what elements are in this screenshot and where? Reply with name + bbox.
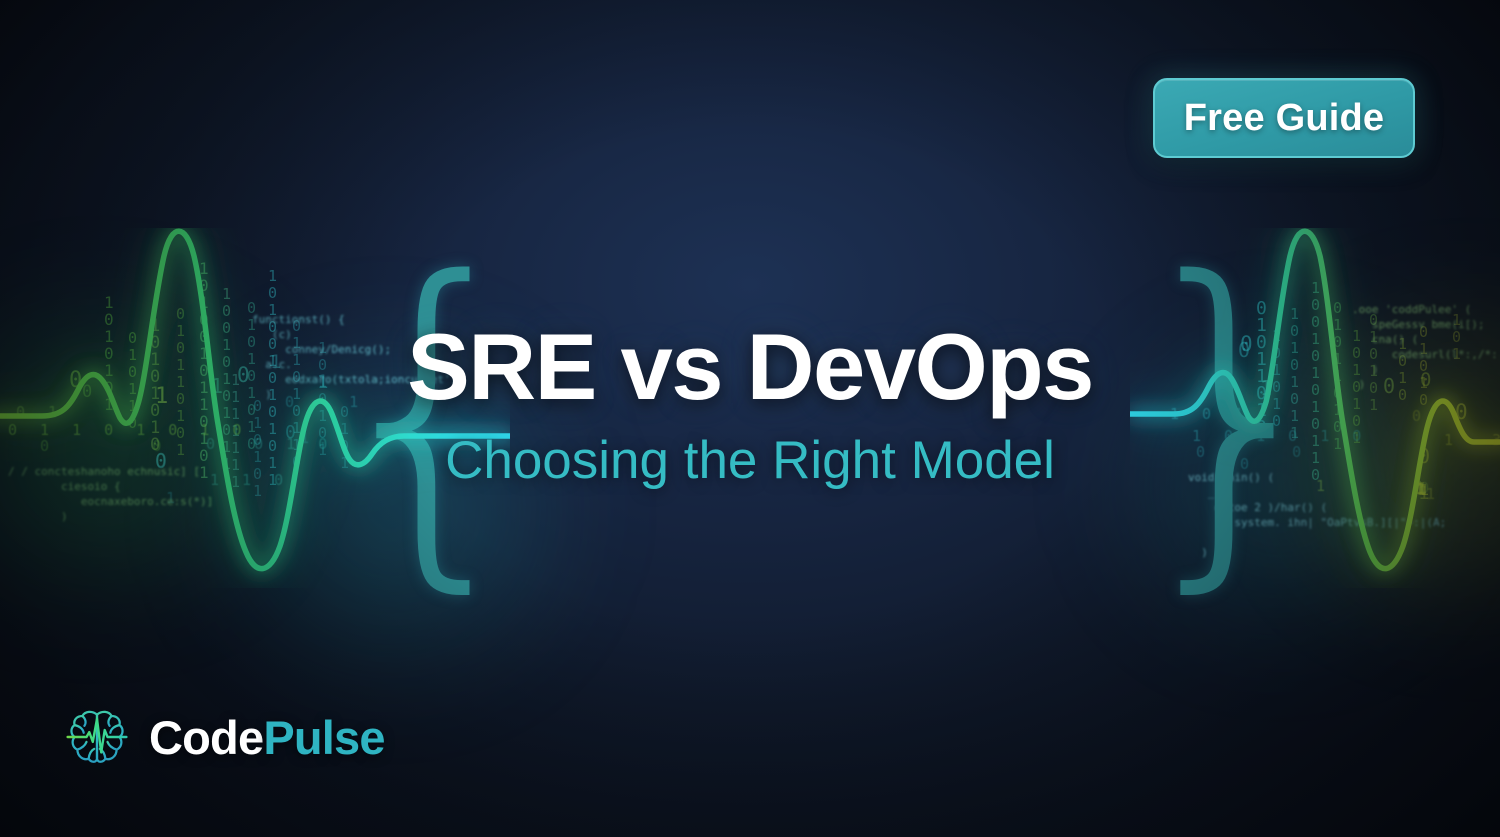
free-guide-label: Free Guide: [1184, 97, 1385, 140]
logo-lockup[interactable]: CodePulse: [62, 702, 385, 772]
banner-canvas: 1 0 1 0 1 0 1 0 1 0 1 1 0 1 0 1 0 1 0 1 …: [0, 0, 1500, 837]
logo-wordmark: CodePulse: [149, 710, 385, 765]
headline-stack: SRE vs DevOps Choosing the Right Model: [0, 318, 1500, 491]
logo-word-code: Code: [149, 711, 263, 764]
page-subtitle: Choosing the Right Model: [0, 430, 1500, 491]
free-guide-badge[interactable]: Free Guide: [1153, 78, 1415, 158]
brain-pulse-icon: [62, 702, 132, 772]
page-title: SRE vs DevOps: [0, 318, 1500, 416]
logo-word-pulse: Pulse: [263, 711, 384, 764]
